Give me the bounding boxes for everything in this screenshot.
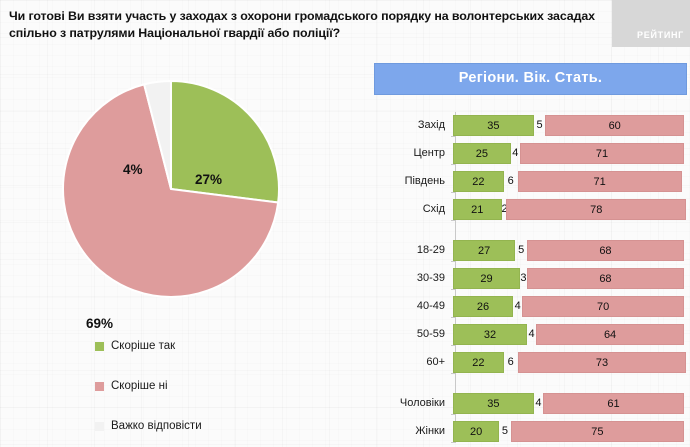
bar-track: 22673 — [452, 352, 687, 373]
bar-segment-no: 61 — [543, 393, 684, 414]
bar-track: 27568 — [452, 240, 687, 261]
axis-tick — [451, 220, 456, 221]
page-title: Чи готові Ви взяти участь у заходах з ох… — [9, 8, 609, 42]
bar-row: 60+22673 — [396, 352, 687, 373]
logo-label: РЕЙТИНГ — [637, 30, 684, 40]
bar-track: 20575 — [452, 421, 687, 442]
axis-tick — [451, 289, 456, 290]
bar-segment-yes: 32 — [453, 324, 527, 345]
bar-row: 30-3929368 — [396, 268, 687, 289]
bar-segment-yes: 29 — [453, 268, 520, 289]
bar-segment-hard: 5 — [534, 115, 546, 136]
bar-segment-yes: 22 — [453, 352, 504, 373]
legend-label: Скоріше ні — [111, 380, 168, 392]
bar-row: 18-2927568 — [396, 240, 687, 261]
axis-tick — [451, 442, 456, 443]
bar-segment-no: 68 — [527, 240, 684, 261]
bar-segment-hard: 6 — [504, 171, 518, 192]
bar-segment-no: 71 — [518, 171, 682, 192]
bar-row-label: 30-39 — [396, 268, 452, 289]
bar-segment-yes: 35 — [453, 115, 534, 136]
bar-segment-hard: 3 — [520, 268, 527, 289]
bar-track: 35560 — [452, 115, 687, 136]
bar-row: Захід35560 — [396, 115, 687, 136]
bar-track: 22671 — [452, 171, 687, 192]
legend-label: Важко відповісти — [111, 420, 202, 432]
bar-row-label: Центр — [396, 143, 452, 164]
axis-tick — [451, 192, 456, 193]
legend-swatch-no-icon — [95, 382, 104, 391]
stacked-bar-chart: Захід35560Центр25471Південь22671Схід2127… — [396, 110, 687, 447]
legend-item-hard: Важко відповісти — [95, 406, 202, 446]
axis-tick — [451, 373, 456, 374]
bar-row: 40-4926470 — [396, 296, 687, 317]
bar-row: Центр25471 — [396, 143, 687, 164]
bar-row-label: 50-59 — [396, 324, 452, 345]
bar-segment-yes: 21 — [453, 199, 502, 220]
pie-svg — [62, 76, 280, 302]
bar-row: Чоловіки35461 — [396, 393, 687, 414]
bar-track: 29368 — [452, 268, 687, 289]
bar-segment-hard: 4 — [534, 393, 543, 414]
bar-row-label: Жінки — [396, 421, 452, 442]
bar-segment-no: 78 — [506, 199, 686, 220]
bar-segment-hard: 4 — [527, 324, 536, 345]
bar-row-label: Чоловіки — [396, 393, 452, 414]
bar-segment-yes: 35 — [453, 393, 534, 414]
bar-segment-hard: 6 — [504, 352, 518, 373]
legend-swatch-yes-icon — [95, 342, 104, 351]
bar-row: Схід21278 — [396, 199, 687, 220]
axis-tick — [451, 414, 456, 415]
legend-swatch-hard-icon — [95, 422, 104, 431]
bar-segment-yes: 20 — [453, 421, 499, 442]
bar-row: 50-5932464 — [396, 324, 687, 345]
bar-segment-yes: 25 — [453, 143, 511, 164]
rating-logo: РЕЙТИНГ — [612, 0, 690, 47]
bar-row-label: 60+ — [396, 352, 452, 373]
bar-segment-yes: 26 — [453, 296, 513, 317]
axis-tick — [451, 317, 456, 318]
pie-slice-yes — [171, 81, 279, 203]
axis-tick — [451, 345, 456, 346]
bar-segment-no: 64 — [536, 324, 684, 345]
bar-track: 35461 — [452, 393, 687, 414]
pie-label-hard: 4% — [123, 162, 143, 177]
bar-row-label: 18-29 — [396, 240, 452, 261]
pie-legend: Скоріше такСкоріше ніВажко відповісти — [95, 326, 202, 446]
bar-segment-yes: 22 — [453, 171, 504, 192]
bar-track: 26470 — [452, 296, 687, 317]
section-banner-label: Регіони. Вік. Стать. — [375, 70, 686, 86]
legend-label: Скоріше так — [111, 340, 175, 352]
bar-segment-yes: 27 — [453, 240, 515, 261]
legend-item-no: Скоріше ні — [95, 366, 202, 406]
bar-track: 21278 — [452, 199, 687, 220]
pie-label-yes: 27% — [195, 172, 222, 187]
bar-row: Південь22671 — [396, 171, 687, 192]
bar-segment-no: 75 — [511, 421, 684, 442]
bar-segment-no: 71 — [520, 143, 684, 164]
bar-row-label: 40-49 — [396, 296, 452, 317]
bar-segment-hard: 5 — [515, 240, 527, 261]
bar-segment-no: 60 — [545, 115, 684, 136]
axis-tick — [451, 136, 456, 137]
axis-tick — [451, 261, 456, 262]
bar-segment-hard: 5 — [499, 421, 511, 442]
axis-tick — [451, 164, 456, 165]
bar-row-label: Схід — [396, 199, 452, 220]
pie-chart: 27% 69% 4% — [62, 76, 280, 302]
bar-track: 32464 — [452, 324, 687, 345]
section-banner: Регіони. Вік. Стать. — [374, 63, 687, 95]
bar-segment-no: 70 — [522, 296, 684, 317]
bar-row: Жінки20575 — [396, 421, 687, 442]
bar-segment-hard: 4 — [513, 296, 522, 317]
legend-item-yes: Скоріше так — [95, 326, 202, 366]
bar-segment-no: 68 — [527, 268, 684, 289]
bar-row-label: Південь — [396, 171, 452, 192]
bar-row-label: Захід — [396, 115, 452, 136]
bar-segment-no: 73 — [518, 352, 687, 373]
bar-segment-hard: 4 — [511, 143, 520, 164]
bar-track: 25471 — [452, 143, 687, 164]
